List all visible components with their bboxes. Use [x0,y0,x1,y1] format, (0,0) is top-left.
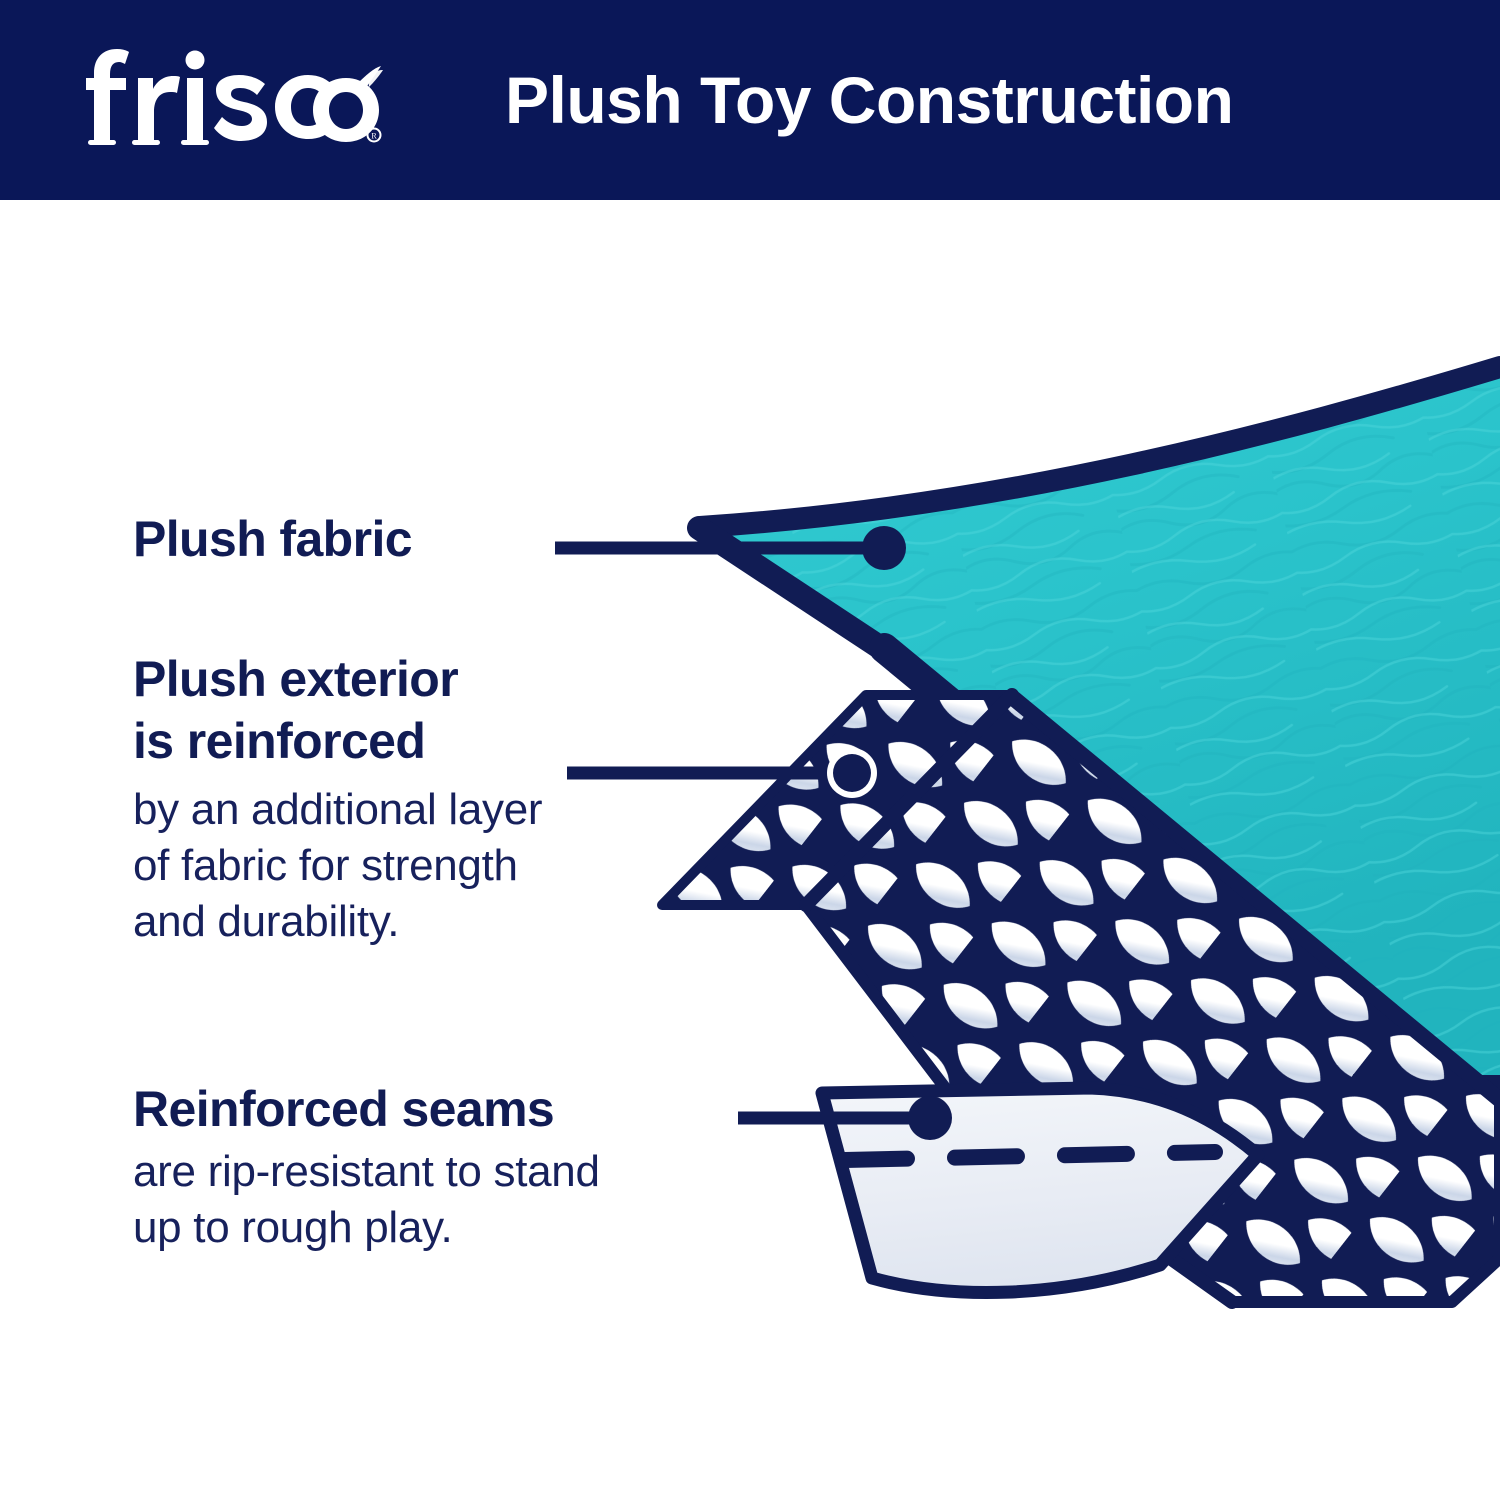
infographic-page: R Plush Toy Construction [0,0,1500,1500]
callout-reinforced-seams: Reinforced seams are rip-resistant to st… [133,1078,600,1256]
page-title: Plush Toy Construction [505,50,1233,150]
header-band: R Plush Toy Construction [0,0,1500,200]
callout-plush-fabric-heading: Plush fabric [133,508,412,570]
callout-plush-exterior: Plush exterior is reinforced by an addit… [133,648,542,950]
callout-reinforced-seams-body: are rip-resistant to stand up to rough p… [133,1144,600,1256]
svg-text:R: R [371,132,377,141]
callout-plush-fabric: Plush fabric [133,508,412,570]
frisco-wordmark-logo: R [84,42,384,154]
callout-plush-exterior-heading: Plush exterior is reinforced [133,648,542,772]
callout-reinforced-seams-heading: Reinforced seams [133,1078,600,1140]
callout-plush-exterior-body: by an additional layer of fabric for str… [133,782,542,950]
